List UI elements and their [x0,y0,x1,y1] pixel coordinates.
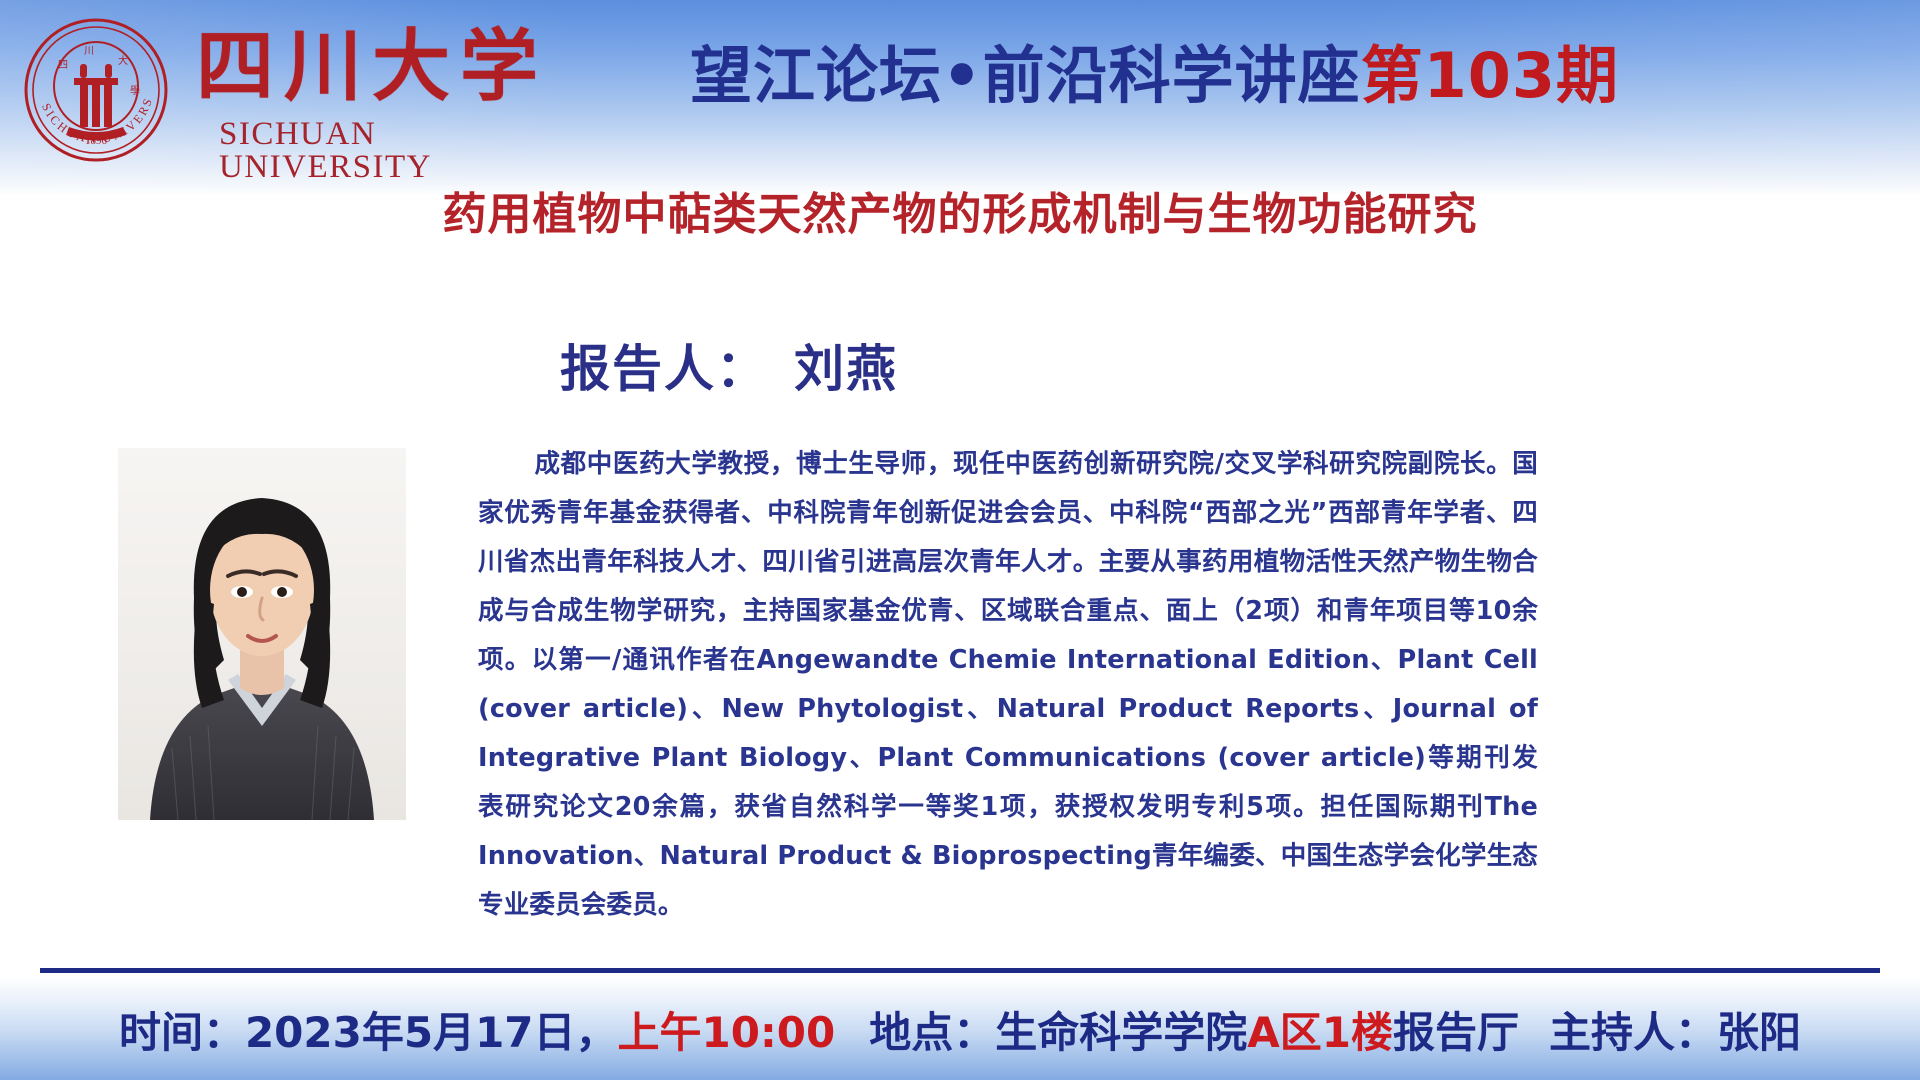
place-label: 地点： [869,999,995,1060]
footer-band: 时间：2023年5月17日，上午10:00地点：生命科学学院A区1楼报告厅主持人… [0,978,1920,1080]
headline-series: 望江论坛•前沿科学讲座 [690,39,1361,112]
footer-divider [40,968,1880,973]
svg-text:大: 大 [118,54,128,67]
logo-english-name: SICHUAN UNIVERSITY [219,118,574,184]
svg-text:川: 川 [84,46,94,57]
place-value-pre: 生命科学学院 [995,999,1247,1060]
svg-text:學: 學 [130,84,140,97]
svg-text:四: 四 [58,60,68,71]
headline-issue: 第103期 [1361,39,1619,112]
footer-details: 时间：2023年5月17日，上午10:00地点：生命科学学院A区1楼报告厅主持人… [0,978,1920,1080]
speaker-name: 刘燕 [794,340,898,398]
time-date: 2023年5月17日， [245,999,618,1060]
lecture-poster: 四 川 大 學 1896 SICHUAN UNIVERSITY 四川大学 SIC… [0,0,1920,1080]
host-label: 主持人： [1549,999,1717,1060]
place-value-post: 报告厅 [1393,999,1519,1060]
sichuan-university-seal-icon: 四 川 大 學 1896 SICHUAN UNIVERSITY [22,16,170,164]
lecture-subtitle: 药用植物中萜类天然产物的形成机制与生物功能研究 [0,186,1920,244]
logo-chinese-name: 四川大学 [196,28,548,106]
university-logo: 四 川 大 學 1896 SICHUAN UNIVERSITY 四川大学 SIC… [14,10,574,170]
host-name: 张阳 [1717,999,1801,1060]
time-hour: 上午10:00 [618,999,836,1060]
speaker-line: 报告人：刘燕 [560,338,898,400]
page-title: 望江论坛•前沿科学讲座第103期 [690,32,1890,120]
speaker-portrait [118,448,406,820]
speaker-bio: 成都中医药大学教授，博士生导师，现任中医药创新研究院/交叉学科研究院副院长。国家… [478,440,1538,930]
time-label: 时间： [119,999,245,1060]
speaker-label: 报告人： [560,340,768,398]
place-value-highlight: A区1楼 [1247,999,1393,1060]
bio-text: 成都中医药大学教授，博士生导师，现任中医药创新研究院/交叉学科研究院副院长。国家… [478,449,1538,920]
